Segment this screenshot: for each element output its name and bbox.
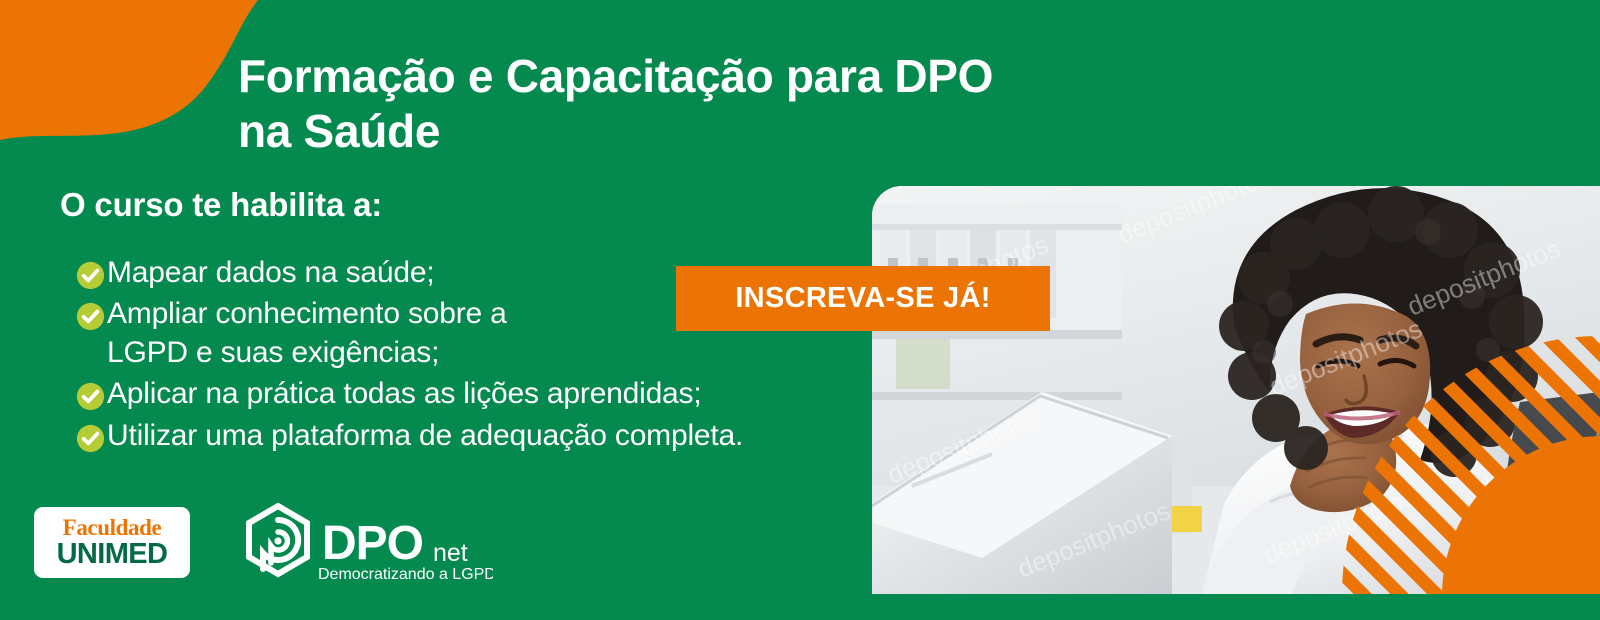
list-item: Aplicar na prática todas as lições apren… xyxy=(76,375,906,413)
dponet-wordmark-bold: DPO xyxy=(322,517,423,570)
dponet-logo: DPO net Democratizando a LGPD xyxy=(238,503,493,583)
list-item-label: Mapear dados na saúde; xyxy=(107,254,435,292)
banner-headline: Formação e Capacitação para DPO na Saúde xyxy=(238,49,1178,160)
dponet-hexagon-icon xyxy=(249,506,307,574)
check-circle-icon xyxy=(76,261,105,290)
headline-line-2: na Saúde xyxy=(238,104,1178,160)
dponet-wordmark-light: net xyxy=(433,539,468,567)
faculdade-unimed-logo: Faculdade UNIMED xyxy=(34,507,190,578)
promo-banner: Formação e Capacitação para DPO na Saúde… xyxy=(0,0,1600,620)
unimed-logo-bottom-text: UNIMED xyxy=(57,539,168,569)
list-item-label: Aplicar na prática todas as lições apren… xyxy=(107,375,701,413)
list-item: Utilizar uma plataforma de adequação com… xyxy=(76,417,906,455)
check-circle-icon xyxy=(76,382,105,411)
photo-illustration: depositphotos depositphotos depositphoto… xyxy=(872,186,1600,594)
headline-line-1: Formação e Capacitação para DPO xyxy=(238,49,1178,105)
check-circle-icon xyxy=(76,302,105,331)
hero-photo: depositphotos depositphotos depositphoto… xyxy=(872,186,1600,594)
banner-subtitle: O curso te habilita a: xyxy=(60,186,382,224)
list-item-label: Ampliar conhecimento sobre a LGPD e suas… xyxy=(107,295,507,372)
unimed-logo-top-text: Faculdade xyxy=(63,516,162,539)
check-circle-icon xyxy=(76,424,105,453)
list-item-label: Utilizar uma plataforma de adequação com… xyxy=(107,417,743,455)
enroll-button[interactable]: INSCREVA-SE JÁ! xyxy=(676,266,1050,331)
dponet-tagline: Democratizando a LGPD xyxy=(318,566,493,583)
